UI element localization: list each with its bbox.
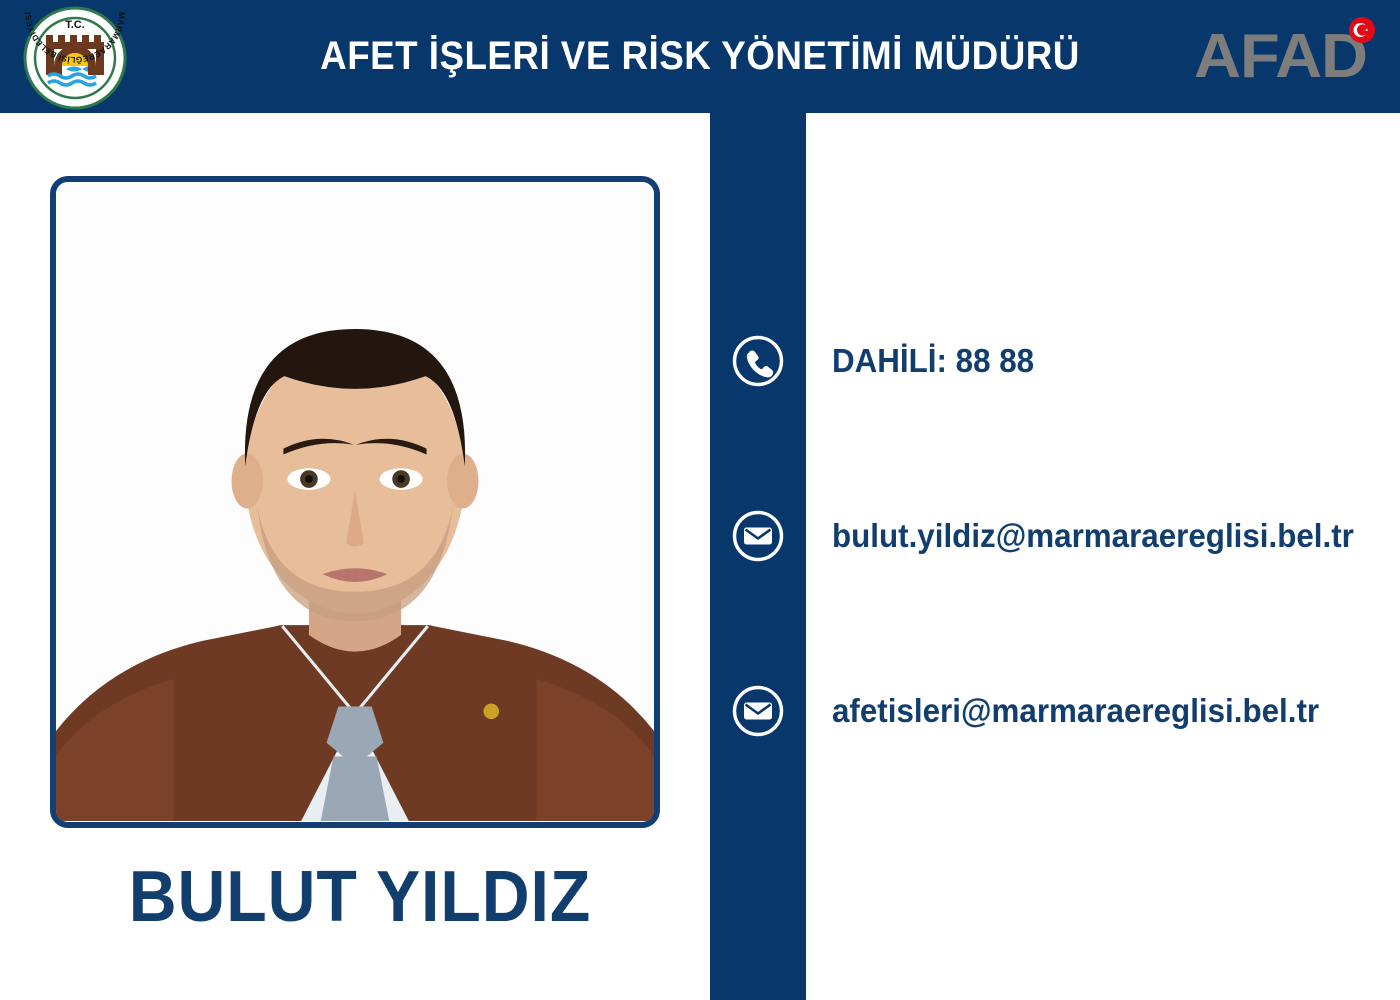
portrait-photo-frame [50, 176, 660, 828]
envelope-icon [710, 493, 806, 579]
contact-row-email-department[interactable]: afetisleri@marmaraereglisi.bel.tr [710, 668, 1345, 754]
portrait-photo [56, 182, 654, 821]
afad-logo-text: AFAD [1194, 22, 1367, 92]
phone-icon [710, 318, 806, 404]
marmaraereglisi-seal-icon: T.C. [22, 6, 128, 110]
contact-label-email-department: afetisleri@marmaraereglisi.bel.tr [832, 692, 1319, 730]
person-name: BULUT YILDIZ [75, 856, 645, 938]
page-title: AFET İŞLERİ VE RİSK YÖNETİMİ MÜDÜRÜ [56, 0, 1344, 113]
municipality-logo: T.C. [22, 6, 128, 110]
contact-label-email-primary: bulut.yildiz@marmaraereglisi.bel.tr [832, 517, 1354, 555]
contact-row-email-primary[interactable]: bulut.yildiz@marmaraereglisi.bel.tr [710, 493, 1381, 579]
afad-logo: AFAD [1194, 22, 1372, 92]
turkish-flag-circle-icon [1348, 16, 1376, 44]
page-header: T.C. [0, 0, 1400, 113]
svg-text:T.C.: T.C. [65, 19, 85, 31]
contact-label-phone: DAHİLİ: 88 88 [832, 342, 1034, 380]
envelope-icon [710, 668, 806, 754]
contact-row-phone[interactable]: DAHİLİ: 88 88 [710, 318, 1045, 404]
